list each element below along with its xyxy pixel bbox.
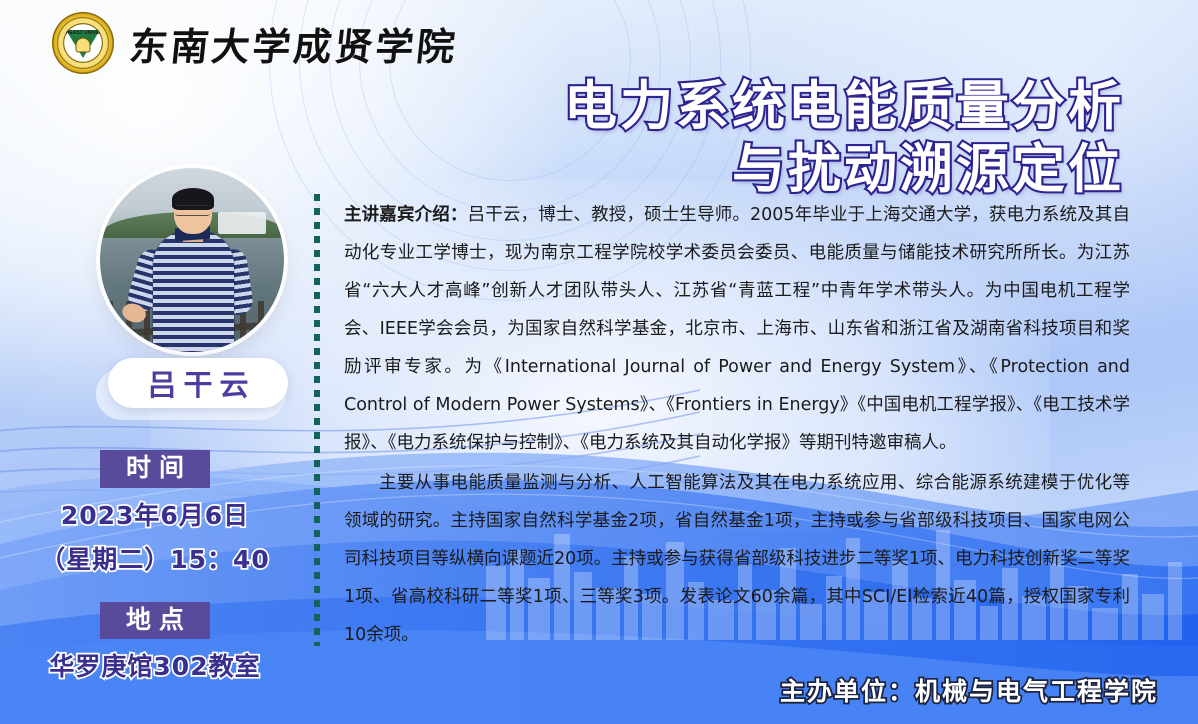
- title-line-2: 与扰动溯源定位: [564, 141, 1124, 198]
- bio-paragraph-1: 主讲嘉宾介绍：吕干云，博士、教授，硕士生导师。2005年毕业于上海交通大学，获电…: [344, 196, 1130, 462]
- time-label: 时间: [100, 450, 210, 488]
- seminar-poster: SOUTHEAST UNIVERSITY 东南大学成贤学院 电力系统电能质量分析…: [0, 0, 1198, 724]
- school-name: 东南大学成贤学院: [127, 16, 461, 71]
- vertical-dotted-divider: [314, 194, 320, 646]
- brand-header: SOUTHEAST UNIVERSITY 东南大学成贤学院: [52, 12, 458, 74]
- title-line-1: 电力系统电能质量分析: [564, 78, 1124, 135]
- organizer-line: 主办单位：机械与电气工程学院: [780, 672, 1158, 708]
- speaker-bio: 主讲嘉宾介绍：吕干云，博士、教授，硕士生导师。2005年毕业于上海交通大学，获电…: [344, 196, 1130, 654]
- speaker-portrait-photo: [100, 168, 284, 352]
- bio-paragraph-1-text: 吕干云，博士、教授，硕士生导师。2005年毕业于上海交通大学，获电力系统及其自动…: [344, 205, 1130, 453]
- speaker-name: 吕干云: [140, 362, 255, 404]
- bio-lead-label: 主讲嘉宾介绍：: [344, 205, 468, 225]
- event-info-block: 时间 2023年6月6日 （星期二）15：40 地点 华罗庚馆302教室: [0, 450, 310, 683]
- time-date: 2023年6月6日: [0, 496, 310, 532]
- bio-paragraph-2: 主要从事电能质量监测与分析、人工智能算法及其在电力系统应用、综合能源系统建模于优…: [344, 464, 1130, 654]
- university-seal-icon: SOUTHEAST UNIVERSITY: [52, 12, 114, 74]
- place-label: 地点: [100, 602, 210, 640]
- place-value: 华罗庚馆302教室: [0, 647, 310, 683]
- speaker-name-badge: 吕干云: [108, 358, 288, 408]
- seal-caption: SOUTHEAST UNIVERSITY: [63, 30, 103, 36]
- time-detail: （星期二）15：40: [0, 540, 310, 576]
- page-title: 电力系统电能质量分析 与扰动溯源定位: [564, 78, 1124, 198]
